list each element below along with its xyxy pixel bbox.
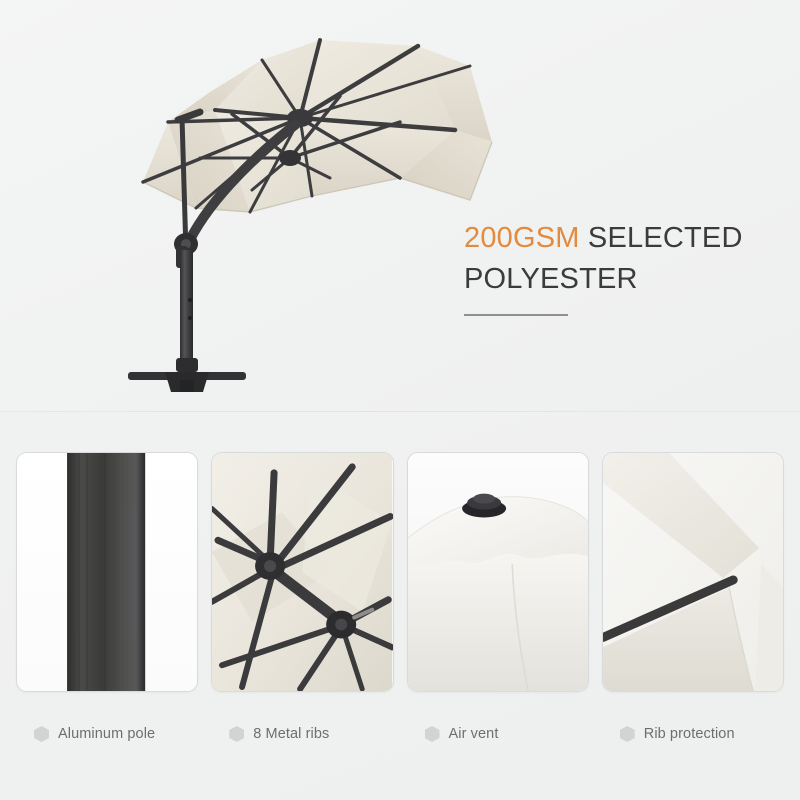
feature-thumb-rib-protection[interactable] bbox=[602, 452, 784, 692]
caption-metal-ribs: 8 Metal ribs bbox=[211, 706, 393, 762]
caption-air-vent: Air vent bbox=[407, 706, 589, 762]
headline-line-2: POLYESTER bbox=[464, 259, 784, 300]
air-vent-photo bbox=[408, 453, 588, 691]
rib-protection-photo bbox=[603, 453, 783, 691]
headline-rest-text: SELECTED bbox=[580, 222, 743, 254]
headline-accent-text: 200GSM bbox=[464, 222, 580, 254]
section-divider bbox=[0, 411, 800, 412]
aluminum-pole bbox=[180, 250, 193, 372]
caption-label-metal-ribs: 8 Metal ribs bbox=[253, 726, 329, 742]
hexagon-bullet-icon bbox=[620, 726, 635, 742]
lower-hub bbox=[279, 150, 301, 166]
caption-label-rib-protection: Rib protection bbox=[644, 726, 735, 742]
caption-aluminum-pole: Aluminum pole bbox=[16, 706, 198, 762]
caption-label-air-vent: Air vent bbox=[449, 726, 499, 742]
aluminum-pole-photo bbox=[17, 453, 197, 691]
product-feature-page: 200GSM SELECTED POLYESTER bbox=[0, 0, 800, 800]
feature-caption-row: Aluminum pole 8 Metal ribs Air vent Rib … bbox=[0, 706, 800, 762]
hero-headline: 200GSM SELECTED POLYESTER bbox=[464, 218, 784, 316]
feature-thumb-metal-ribs[interactable] bbox=[211, 452, 393, 692]
feature-thumbnail-strip bbox=[0, 452, 800, 694]
caption-label-aluminum-pole: Aluminum pole bbox=[58, 726, 155, 742]
metal-ribs-photo bbox=[212, 453, 392, 691]
product-image-umbrella bbox=[0, 0, 800, 412]
headline-underline-rule bbox=[464, 314, 568, 316]
headline-line-1: 200GSM SELECTED bbox=[464, 218, 784, 259]
hexagon-bullet-icon bbox=[229, 726, 244, 742]
hexagon-bullet-icon bbox=[425, 726, 440, 742]
feature-thumb-aluminum-pole[interactable] bbox=[16, 452, 198, 692]
feature-thumb-air-vent[interactable] bbox=[407, 452, 589, 692]
hexagon-bullet-icon bbox=[34, 726, 49, 742]
caption-rib-protection: Rib protection bbox=[602, 706, 784, 762]
cross-base bbox=[128, 358, 246, 392]
hero-section: 200GSM SELECTED POLYESTER bbox=[0, 0, 800, 412]
